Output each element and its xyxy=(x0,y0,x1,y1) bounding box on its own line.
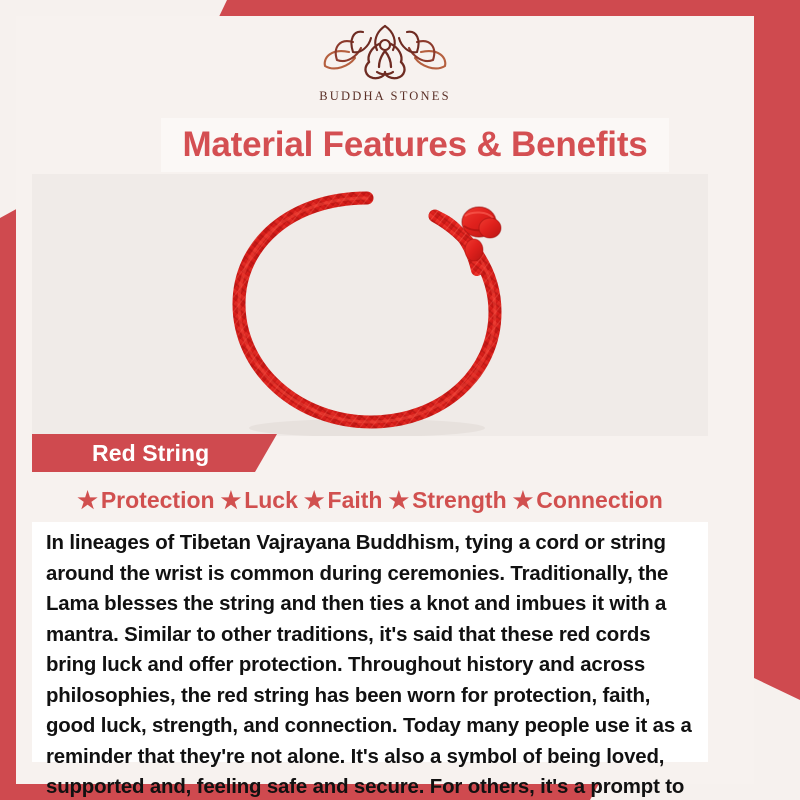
star-icon: ★ xyxy=(513,489,534,512)
keyword-label: Protection xyxy=(101,487,215,514)
keyword-label: Strength xyxy=(412,487,507,514)
keyword-label: Faith xyxy=(328,487,383,514)
description-paragraph: In lineages of Tibetan Vajrayana Buddhis… xyxy=(46,528,692,800)
title-banner: Material Features & Benefits xyxy=(161,118,669,172)
star-icon: ★ xyxy=(304,489,325,512)
product-label-banner: Red String xyxy=(32,434,277,472)
frame-bar-right xyxy=(754,0,800,700)
benefit-keywords-row: ★ Protection ★ Luck ★ Faith ★ Strength ★… xyxy=(32,480,708,520)
keyword-label: Luck xyxy=(244,487,298,514)
brand-logo: BUDDHA STONES xyxy=(16,22,754,104)
keyword-label: Connection xyxy=(536,487,663,514)
lotus-meditation-figure-icon xyxy=(319,22,451,88)
star-icon: ★ xyxy=(77,489,98,512)
infographic-page: BUDDHA STONES Material Features & Benefi… xyxy=(0,0,800,800)
page-title: Material Features & Benefits xyxy=(182,125,647,165)
keyword-connection: ★ Connection xyxy=(513,487,663,514)
star-icon: ★ xyxy=(388,489,409,512)
star-icon: ★ xyxy=(221,489,242,512)
keyword-protection: ★ Protection xyxy=(77,487,214,514)
keyword-luck: ★ Luck xyxy=(221,487,298,514)
bracelet-knot xyxy=(462,207,501,261)
keyword-faith: ★ Faith xyxy=(304,487,383,514)
content-area: BUDDHA STONES Material Features & Benefi… xyxy=(16,16,754,784)
product-label-text: Red String xyxy=(32,440,209,467)
brand-wordmark: BUDDHA STONES xyxy=(319,89,451,104)
product-image-band xyxy=(32,174,708,436)
red-braided-string-bracelet-image xyxy=(195,178,545,436)
description-card: In lineages of Tibetan Vajrayana Buddhis… xyxy=(32,522,708,762)
keyword-strength: ★ Strength xyxy=(388,487,506,514)
